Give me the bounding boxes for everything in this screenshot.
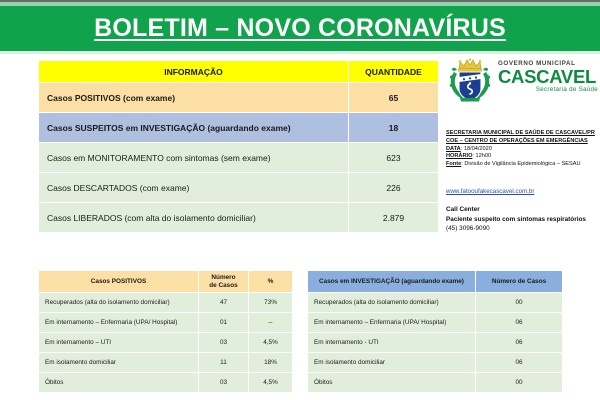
table-header-row: Casos em INVESTIGAÇÃO (aguardando exame)… bbox=[308, 271, 563, 293]
table-row: Em isolamento domiciliar 06 bbox=[308, 353, 563, 373]
time-line: HORÁRIO: 12h00 bbox=[446, 153, 598, 161]
row-cases: 03 bbox=[199, 373, 249, 393]
row-label: Óbitos bbox=[308, 373, 476, 393]
row-cases: 06 bbox=[476, 333, 563, 353]
table-row: Em internamento – UTI 03 4,5% bbox=[39, 333, 293, 353]
row-value: 623 bbox=[349, 143, 439, 173]
table-header-row: INFORMAÇÃO QUANTIDADE bbox=[39, 61, 439, 83]
call-center-block: Call Center Paciente suspeito com sintom… bbox=[446, 205, 600, 234]
row-percent: 4,5% bbox=[249, 373, 293, 393]
row-label: Em internamento – UTI bbox=[39, 333, 199, 353]
table-row: Casos LIBERADOS (com alta do isolamento … bbox=[39, 203, 439, 233]
call-center-title: Call Center bbox=[446, 205, 600, 215]
table-header-row: Casos POSITIVOS Número de Casos % bbox=[39, 271, 293, 293]
time-value: : 12h00 bbox=[472, 153, 491, 159]
row-cases: 00 bbox=[476, 293, 563, 313]
header-quantidade: QUANTIDADE bbox=[349, 61, 439, 83]
table-row: Recuperados (alta do isolamento domicili… bbox=[39, 293, 293, 313]
table-row: Em internamento - UTI 06 bbox=[308, 333, 563, 353]
table-row: Óbitos 03 4,5% bbox=[39, 373, 293, 393]
row-label: Casos LIBERADOS (com alta do isolamento … bbox=[39, 203, 349, 233]
org-line-2: COE – CENTRO DE OPERAÇÕES EM EMERGÊNCIAS bbox=[446, 138, 598, 146]
table-row: Casos em MONITORAMENTO com sintomas (sem… bbox=[39, 143, 439, 173]
row-cases: 47 bbox=[199, 293, 249, 313]
row-label: Recuperados (alta do isolamento domicili… bbox=[308, 293, 476, 313]
investigation-cases-table: Casos em INVESTIGAÇÃO (aguardando exame)… bbox=[307, 270, 563, 393]
header-de-casos: de Casos bbox=[209, 282, 237, 289]
table-row: Em internamento – Enfermaria (UPA/ Hospi… bbox=[308, 313, 563, 333]
row-cases: 00 bbox=[476, 373, 563, 393]
header-casos-investigacao: Casos em INVESTIGAÇÃO (aguardando exame) bbox=[308, 271, 476, 293]
header-numero: Número bbox=[211, 274, 235, 281]
boletim-slide: BOLETIM – NOVO CORONAVÍRUS INFORMAÇÃO QU… bbox=[0, 0, 600, 400]
row-cases: 06 bbox=[476, 353, 563, 373]
logo-city-name: CASCAVEL bbox=[498, 67, 598, 87]
row-label: Casos em MONITORAMENTO com sintomas (sem… bbox=[39, 143, 349, 173]
date-label: DATA bbox=[446, 146, 461, 152]
page-title: BOLETIM – NOVO CORONAVÍRUS bbox=[0, 8, 600, 48]
org-line-1: SECRETARIA MUNICIPAL DE SAÚDE DE CASCAVE… bbox=[446, 130, 598, 138]
municipal-logo: GOVERNO MUNICIPAL CASCAVEL Secretaria de… bbox=[446, 58, 596, 106]
row-label: Em isolamento domiciliar bbox=[39, 353, 199, 373]
row-value: 65 bbox=[349, 83, 439, 113]
header-numero-de-casos: Número de Casos bbox=[476, 271, 563, 293]
website-link[interactable]: www.fatooufakecascavel.com.br bbox=[446, 188, 534, 195]
header-informacao: INFORMAÇÃO bbox=[39, 61, 349, 83]
row-cases: 11 bbox=[199, 353, 249, 373]
main-summary-table: INFORMAÇÃO QUANTIDADE Casos POSITIVOS (c… bbox=[38, 60, 439, 233]
table-row: Recuperados (alta do isolamento domicili… bbox=[308, 293, 563, 313]
source-label: Fonte bbox=[446, 161, 461, 167]
row-value: 18 bbox=[349, 113, 439, 143]
row-label: Em internamento - UTI bbox=[308, 333, 476, 353]
time-label: HORÁRIO bbox=[446, 153, 472, 159]
call-center-phone: (45) 3096-9090 bbox=[446, 224, 600, 234]
source-line: Fonte: Divisão de Vigilância Epidemiológ… bbox=[446, 161, 598, 169]
row-label: Casos POSITIVOS (com exame) bbox=[39, 83, 349, 113]
cascavel-coat-of-arms-icon bbox=[446, 58, 494, 104]
banner-bottom-strip bbox=[0, 51, 600, 54]
header-numero-de-casos: Número de Casos bbox=[199, 271, 249, 293]
table-row: Casos DESCARTADOS (com exame) 226 bbox=[39, 173, 439, 203]
row-label: Casos DESCARTADOS (com exame) bbox=[39, 173, 349, 203]
table-row: Casos POSITIVOS (com exame) 65 bbox=[39, 83, 439, 113]
row-label: Em internamento – Enfermaria (UPA/ Hospi… bbox=[39, 313, 199, 333]
row-label: Casos SUSPEITOS em INVESTIGAÇÃO (aguarda… bbox=[39, 113, 349, 143]
logo-wordmark: GOVERNO MUNICIPAL CASCAVEL Secretaria de… bbox=[498, 60, 598, 93]
positive-cases-table: Casos POSITIVOS Número de Casos % Recupe… bbox=[38, 270, 293, 393]
table-row: Casos SUSPEITOS em INVESTIGAÇÃO (aguarda… bbox=[39, 113, 439, 143]
org-line-2-text: COE – CENTRO DE OPERAÇÕES EM EMERGÊNCIAS bbox=[446, 138, 588, 144]
row-label: Recuperados (alta do isolamento domicili… bbox=[39, 293, 199, 313]
row-percent: -- bbox=[249, 313, 293, 333]
row-cases: 06 bbox=[476, 313, 563, 333]
call-center-description: Paciente suspeito com sintomas respirató… bbox=[446, 215, 600, 225]
row-value: 2.879 bbox=[349, 203, 439, 233]
row-value: 226 bbox=[349, 173, 439, 203]
table-row: Em internamento – Enfermaria (UPA/ Hospi… bbox=[39, 313, 293, 333]
row-label: Em isolamento domiciliar bbox=[308, 353, 476, 373]
table-row: Óbitos 00 bbox=[308, 373, 563, 393]
header-percent: % bbox=[249, 271, 293, 293]
logo-secretaria-saude: Secretaria de Saúde bbox=[498, 86, 598, 93]
date-value: : 18/04/2020 bbox=[461, 146, 492, 152]
source-value: : Divisão de Vigilância Epidemiológica –… bbox=[461, 161, 580, 167]
row-percent: 4,5% bbox=[249, 333, 293, 353]
row-label: Em internamento – Enfermaria (UPA/ Hospi… bbox=[308, 313, 476, 333]
row-cases: 03 bbox=[199, 333, 249, 353]
row-cases: 01 bbox=[199, 313, 249, 333]
row-label: Óbitos bbox=[39, 373, 199, 393]
row-percent: 18% bbox=[249, 353, 293, 373]
header-casos-positivos: Casos POSITIVOS bbox=[39, 271, 199, 293]
row-percent: 73% bbox=[249, 293, 293, 313]
table-row: Em isolamento domiciliar 11 18% bbox=[39, 353, 293, 373]
org-line-1-text: SECRETARIA MUNICIPAL DE SAÚDE DE CASCAVE… bbox=[446, 130, 595, 136]
side-info-block: SECRETARIA MUNICIPAL DE SAÚDE DE CASCAVE… bbox=[446, 130, 598, 169]
